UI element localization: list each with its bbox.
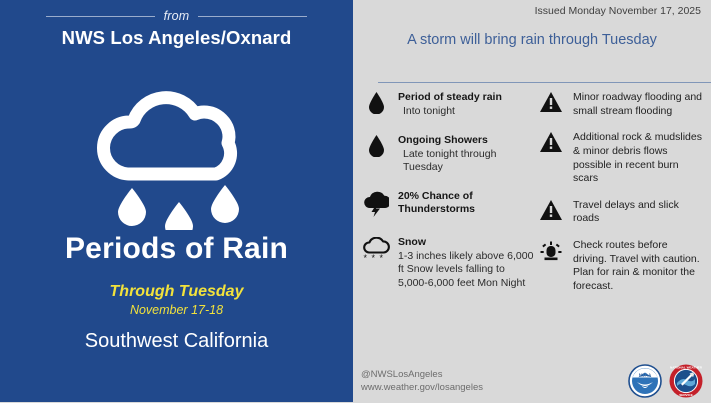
svg-text:NATIONAL WEATHER: NATIONAL WEATHER xyxy=(670,366,703,370)
svg-text:NOAA: NOAA xyxy=(639,372,651,377)
weather-infographic: from NWS Los Angeles/Oxnard Periods of R… xyxy=(0,0,711,402)
from-label: from xyxy=(164,9,190,23)
item-text: Check routes before driving. Travel with… xyxy=(573,239,704,294)
warning-triangle-icon xyxy=(536,90,566,112)
list-item: * * * Snow 1-3 inches likely above 6,000… xyxy=(361,235,536,290)
svg-text:*: * xyxy=(364,253,368,263)
issuing-office-name: NWS Los Angeles/Oxnard xyxy=(0,27,353,49)
national-weather-service-logo: NATIONAL WEATHER SERVICE xyxy=(669,364,703,403)
raindrop-icon xyxy=(361,133,391,157)
svg-text:*: * xyxy=(372,253,376,263)
item-body: Into tonight xyxy=(398,105,536,118)
timing-dates-label: November 17-18 xyxy=(0,303,353,317)
list-item: Ongoing Showers Late tonight through Tue… xyxy=(361,133,536,175)
list-item: Minor roadway flooding and small stream … xyxy=(536,90,704,118)
social-handle[interactable]: @NWSLosAngeles xyxy=(361,369,442,380)
region-label: Southwest California xyxy=(0,330,353,353)
list-item: Additional rock & mudslides & minor debr… xyxy=(536,130,704,186)
from-rule-right xyxy=(198,16,307,17)
thunderstorm-icon xyxy=(361,189,391,217)
warning-triangle-icon xyxy=(536,130,566,152)
issued-timestamp: Issued Monday November 17, 2025 xyxy=(535,5,701,17)
warning-triangle-icon xyxy=(536,198,566,220)
snow-cloud-icon: * * * xyxy=(361,235,391,263)
right-detail-panel: Issued Monday November 17, 2025 A storm … xyxy=(353,0,711,402)
item-text: Travel delays and slick roads xyxy=(573,199,704,226)
item-title: Period of steady rain xyxy=(398,91,536,104)
beacon-light-icon xyxy=(536,238,566,263)
weather-items-column: Period of steady rain Into tonight Ongoi… xyxy=(361,90,536,299)
left-headline: Periods of Rain xyxy=(0,232,353,266)
svg-text:SERVICE: SERVICE xyxy=(679,393,693,397)
website-url[interactable]: www.weather.gov/losangeles xyxy=(361,382,483,393)
left-summary-panel: from NWS Los Angeles/Oxnard Periods of R… xyxy=(0,0,353,402)
footer: @NWSLosAngeles www.weather.gov/losangele… xyxy=(353,360,711,402)
logo-strip: NOAA NATIONAL WEATHER SERVICE xyxy=(628,364,703,403)
rain-cloud-icon xyxy=(0,78,353,233)
item-body: Late tonight through Tuesday xyxy=(398,148,536,175)
list-item: Check routes before driving. Travel with… xyxy=(536,238,704,294)
noaa-logo: NOAA xyxy=(628,364,662,403)
item-body: 1-3 inches likely above 6,000 ft Snow le… xyxy=(398,250,536,290)
item-text: Additional rock & mudslides & minor debr… xyxy=(573,131,704,186)
item-title: 20% Chance of Thunderstorms xyxy=(398,190,536,216)
from-rule-left xyxy=(46,16,155,17)
item-title: Snow xyxy=(398,236,536,249)
item-text: Minor roadway flooding and small stream … xyxy=(573,91,704,118)
bullet-columns: Period of steady rain Into tonight Ongoi… xyxy=(353,90,711,360)
item-title: Ongoing Showers xyxy=(398,134,536,147)
raindrop-icon xyxy=(361,90,391,114)
list-item: 20% Chance of Thunderstorms xyxy=(361,189,536,217)
list-item: Travel delays and slick roads xyxy=(536,198,704,226)
headline-divider xyxy=(378,82,711,83)
right-headline: A storm will bring rain through Tuesday xyxy=(353,32,711,48)
hazard-items-column: Minor roadway flooding and small stream … xyxy=(536,90,704,303)
list-item: Period of steady rain Into tonight xyxy=(361,90,536,119)
timing-main-label: Through Tuesday xyxy=(0,283,353,301)
from-row: from xyxy=(0,9,353,23)
svg-text:*: * xyxy=(380,253,384,263)
